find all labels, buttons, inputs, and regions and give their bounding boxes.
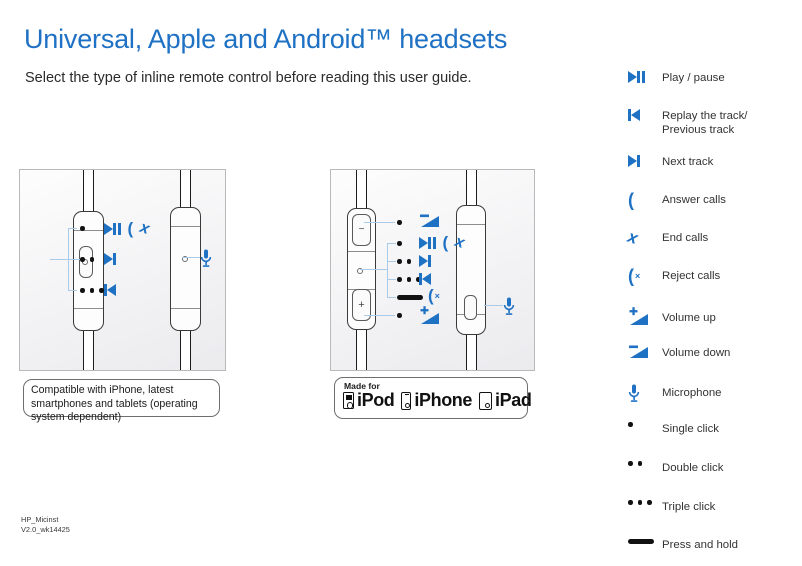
answer-call-icon: (	[628, 192, 662, 207]
previous-track-icon	[104, 284, 116, 296]
apple-mic-button[interactable]	[464, 295, 477, 320]
next-track-icon	[628, 154, 662, 167]
legend-label: Reject calls	[662, 268, 720, 283]
volume-up-icon	[628, 306, 662, 326]
leader-row3	[68, 290, 77, 291]
apple-glyph-volume-up	[419, 306, 441, 325]
previous-track-icon	[419, 273, 431, 285]
legend-item-volume-up: Volume up	[628, 306, 796, 326]
legend-label: Volume up	[662, 306, 716, 325]
remote-seam-top	[74, 230, 103, 231]
answer-call-icon: (	[443, 236, 449, 250]
legend-label: Volume down	[662, 344, 730, 360]
ipod-icon	[343, 392, 354, 409]
ipad-icon	[479, 392, 492, 410]
legend-label: Replay the track/ Previous track	[662, 108, 747, 137]
next-track-icon	[419, 255, 431, 267]
double-click-icon	[628, 460, 662, 466]
volume-up-icon	[419, 306, 441, 325]
leader-row1	[68, 228, 77, 229]
legend-item-double-click: Double click	[628, 460, 796, 478]
legend-panel: Play / pause Replay the track/ Previous …	[628, 70, 796, 556]
reject-call-icon: ( ×	[628, 268, 662, 283]
universal-microphone-body	[170, 207, 201, 331]
mic-seam-top	[171, 226, 200, 227]
apple-dots-row0	[397, 220, 402, 225]
apple-press-hold-bar	[397, 295, 423, 300]
leader-button-line	[50, 259, 84, 260]
legend-item-next-track: Next track	[628, 154, 796, 172]
device-name-iphone: iPhone	[414, 390, 472, 411]
legend-label: Play / pause	[662, 70, 725, 85]
footer-line-1: HP_Micinst	[21, 515, 70, 525]
volume-down-icon	[419, 214, 441, 228]
legend-label: End calls	[662, 230, 708, 245]
apple-seam-1	[348, 251, 375, 252]
legend-label: Double click	[662, 460, 723, 475]
page-title: Universal, Apple and Android™ headsets	[24, 24, 507, 55]
iphone-icon	[401, 392, 411, 410]
apple-leader-r2	[387, 261, 396, 262]
apple-cable-left-lower	[356, 325, 367, 371]
remote-seam-bottom	[74, 308, 103, 309]
legend-item-press-and-hold: Press and hold	[628, 538, 796, 556]
next-track-icon	[104, 253, 116, 265]
apple-bracket-vertical	[387, 243, 388, 297]
apple-leader-r1	[387, 243, 396, 244]
legend-item-end-calls: x End calls	[628, 230, 796, 248]
apple-glyph-row-triple	[419, 273, 431, 285]
apple-dots-row1	[397, 241, 402, 246]
glyph-row-double	[104, 253, 116, 265]
apple-madefor-box: Made for iPod iPhone iPad	[334, 377, 528, 419]
universal-headset-diagram: ( x	[19, 169, 226, 371]
apple-glyph-row-single: ( x	[419, 236, 464, 250]
legend-item-play-pause: Play / pause	[628, 70, 796, 88]
legend-label: Next track	[662, 154, 713, 169]
legend-item-answer-calls: ( Answer calls	[628, 192, 796, 210]
mic-seam-bottom	[171, 308, 200, 309]
apple-mic-seam-top	[457, 224, 485, 225]
click-dots-single	[80, 226, 85, 231]
apple-glyph-row-hold: ( ×	[428, 289, 440, 303]
document-page: Universal, Apple and Android™ headsets S…	[0, 0, 802, 566]
legend-item-reject-calls: ( × Reject calls	[628, 268, 796, 286]
legend-item-volume-down: Volume down	[628, 344, 796, 362]
legend-item-triple-click: Triple click	[628, 499, 796, 517]
apple-leader-r3	[387, 279, 396, 280]
microphone-icon	[628, 383, 662, 403]
single-click-icon	[628, 421, 662, 427]
legend-label: Answer calls	[662, 192, 726, 207]
apple-leader-center	[360, 269, 388, 270]
play-pause-icon	[419, 237, 436, 249]
page-subtitle: Select the type of inline remote control…	[25, 70, 472, 86]
leader-row2	[68, 259, 77, 260]
click-dots-triple	[80, 288, 104, 293]
apple-cable-right-lower	[466, 330, 477, 371]
apple-leader-volume-down	[364, 222, 395, 223]
legend-label: Triple click	[662, 499, 715, 514]
glyph-row-triple	[104, 284, 116, 296]
answer-call-icon: (	[128, 222, 134, 236]
made-for-devices: iPod iPhone iPad	[343, 390, 531, 411]
apple-leader-volume-up	[364, 315, 395, 316]
apple-minus-label: −	[359, 225, 365, 235]
apple-volume-down-button[interactable]: −	[352, 214, 371, 246]
legend-label: Single click	[662, 421, 719, 436]
press-hold-icon	[628, 538, 662, 544]
legend-item-single-click: Single click	[628, 421, 796, 439]
play-pause-icon	[628, 70, 662, 83]
apple-glyph-row-double	[419, 255, 431, 267]
play-pause-icon	[104, 223, 121, 235]
apple-dots-row3	[397, 277, 421, 282]
glyph-row-single: ( x	[104, 222, 149, 236]
legend-label: Microphone	[662, 383, 722, 400]
footer-line-2: V2.0_wk14425	[21, 525, 70, 535]
universal-caption-text: Compatible with iPhone, latest smartphon…	[31, 384, 212, 425]
universal-caption-box: Compatible with iPhone, latest smartphon…	[23, 379, 220, 417]
device-name-ipad: iPad	[495, 390, 531, 411]
apple-dots-row5	[397, 313, 402, 318]
microphone-icon	[200, 249, 212, 268]
apple-leader-r4	[387, 297, 396, 298]
apple-headset-diagram: − +	[330, 169, 535, 371]
microphone-icon	[503, 297, 515, 316]
legend-item-microphone: Microphone	[628, 383, 796, 403]
reject-call-icon: ( ×	[428, 289, 440, 303]
click-dots-double	[80, 257, 94, 262]
legend-item-previous-track: Replay the track/ Previous track	[628, 108, 796, 137]
apple-dots-row2	[397, 259, 411, 264]
apple-plus-label: +	[358, 300, 364, 311]
volume-down-icon	[628, 344, 662, 359]
apple-glyph-volume-down	[419, 214, 441, 228]
previous-track-icon	[628, 108, 662, 121]
apple-mic-leader	[484, 305, 503, 306]
triple-click-icon	[628, 499, 662, 505]
end-call-icon: x	[138, 221, 151, 237]
device-name-ipod: iPod	[357, 390, 394, 411]
document-footer: HP_Micinst V2.0_wk14425	[21, 515, 70, 534]
universal-mic-leader	[182, 257, 200, 258]
legend-label: Press and hold	[662, 538, 738, 552]
end-call-icon: x	[628, 230, 662, 245]
